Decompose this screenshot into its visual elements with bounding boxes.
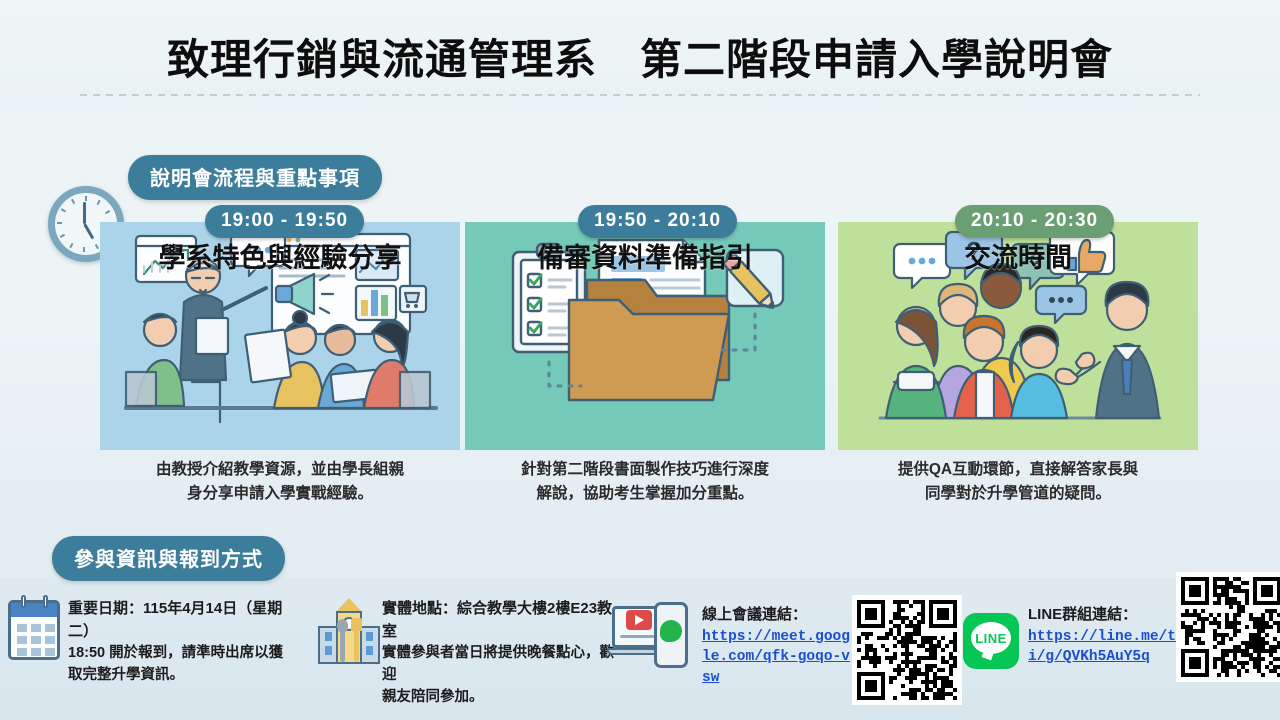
meet-link[interactable]: https://meet.google.com/qfk-goqo-vsw [702,627,852,689]
line-logo-text: LINE [963,631,1019,646]
school-building-icon [318,598,380,664]
date-info-heading: 重要日期：115年4月14日（星期二） [68,598,304,643]
clock-tick [61,208,66,212]
venue-info-body: 實體參與者當日將提供晚餐點心，歡迎 親友陪同參加。 [382,643,627,708]
schedule-caption-1: 由教授介紹教學資源，並由學長組親 身分享申請入學實戰經驗。 [100,458,460,506]
line-link[interactable]: https://line.me/ti/g/QVKh5AuY5q [1028,627,1180,668]
venue-info-block: 實體地點：綜合教學大樓2樓E23教室 實體參與者當日將提供晚餐點心，歡迎 親友陪… [382,598,627,708]
clock-tick [95,244,99,249]
date-info-block: 重要日期：115年4月14日（星期二） 18:50 開於報到，請準時出席以獲 取… [68,598,304,687]
clock-tick [57,222,62,224]
laptop-phone-icon [612,602,694,674]
schedule-time-1: 19:00 - 19:50 [205,205,364,238]
page-title: 致理行銷與流通管理系 第二階段申請入學說明會 [0,26,1280,87]
date-info-body: 18:50 開於報到，請準時出席以獲 取完整升學資訊。 [68,643,304,687]
calendar-icon [8,600,60,660]
line-qr-code [1176,572,1280,682]
schedule-caption-2: 針對第二階段書面製作技巧進行深度 解說，協助考生掌握加分重點。 [465,458,825,506]
clock-tick [69,243,73,248]
schedule-title-2: 備審資料準備指引 [465,236,825,275]
schedule-time-2: 19:50 - 20:10 [578,205,737,238]
schedule-caption-3: 提供QA互動環節，直接解答家長與 同學對於升學管道的疑問。 [838,458,1198,506]
line-logo-icon: LINE [963,613,1019,669]
section-label-join: 參與資訊與報到方式 [52,536,285,581]
schedule-title-1: 學系特色與經驗分享 [100,236,460,275]
clock-tick [83,247,85,252]
meet-link-heading: 線上會議連結： [702,604,852,627]
schedule-title-3: 交流時間 [838,236,1198,275]
clock-tick [71,199,75,204]
line-link-block: LINE群組連結： https://line.me/ti/g/QVKh5AuY5… [1028,604,1180,668]
section-label-flow: 說明會流程與重點事項 [128,155,382,200]
clock-tick [97,200,101,205]
meet-link-block: 線上會議連結： https://meet.google.com/qfk-goqo… [702,604,852,688]
clock-tick [105,210,110,214]
schedule-time-3: 20:10 - 20:30 [955,205,1114,238]
clock-tick [85,196,87,201]
meet-qr-code [852,595,962,705]
header-divider [80,94,1200,96]
clock-tick [60,234,65,238]
venue-info-heading: 實體地點：綜合教學大樓2樓E23教室 [382,598,627,643]
page-header: 致理行銷與流通管理系 第二階段申請入學說明會 [0,0,1280,112]
line-link-heading: LINE群組連結： [1028,604,1180,627]
